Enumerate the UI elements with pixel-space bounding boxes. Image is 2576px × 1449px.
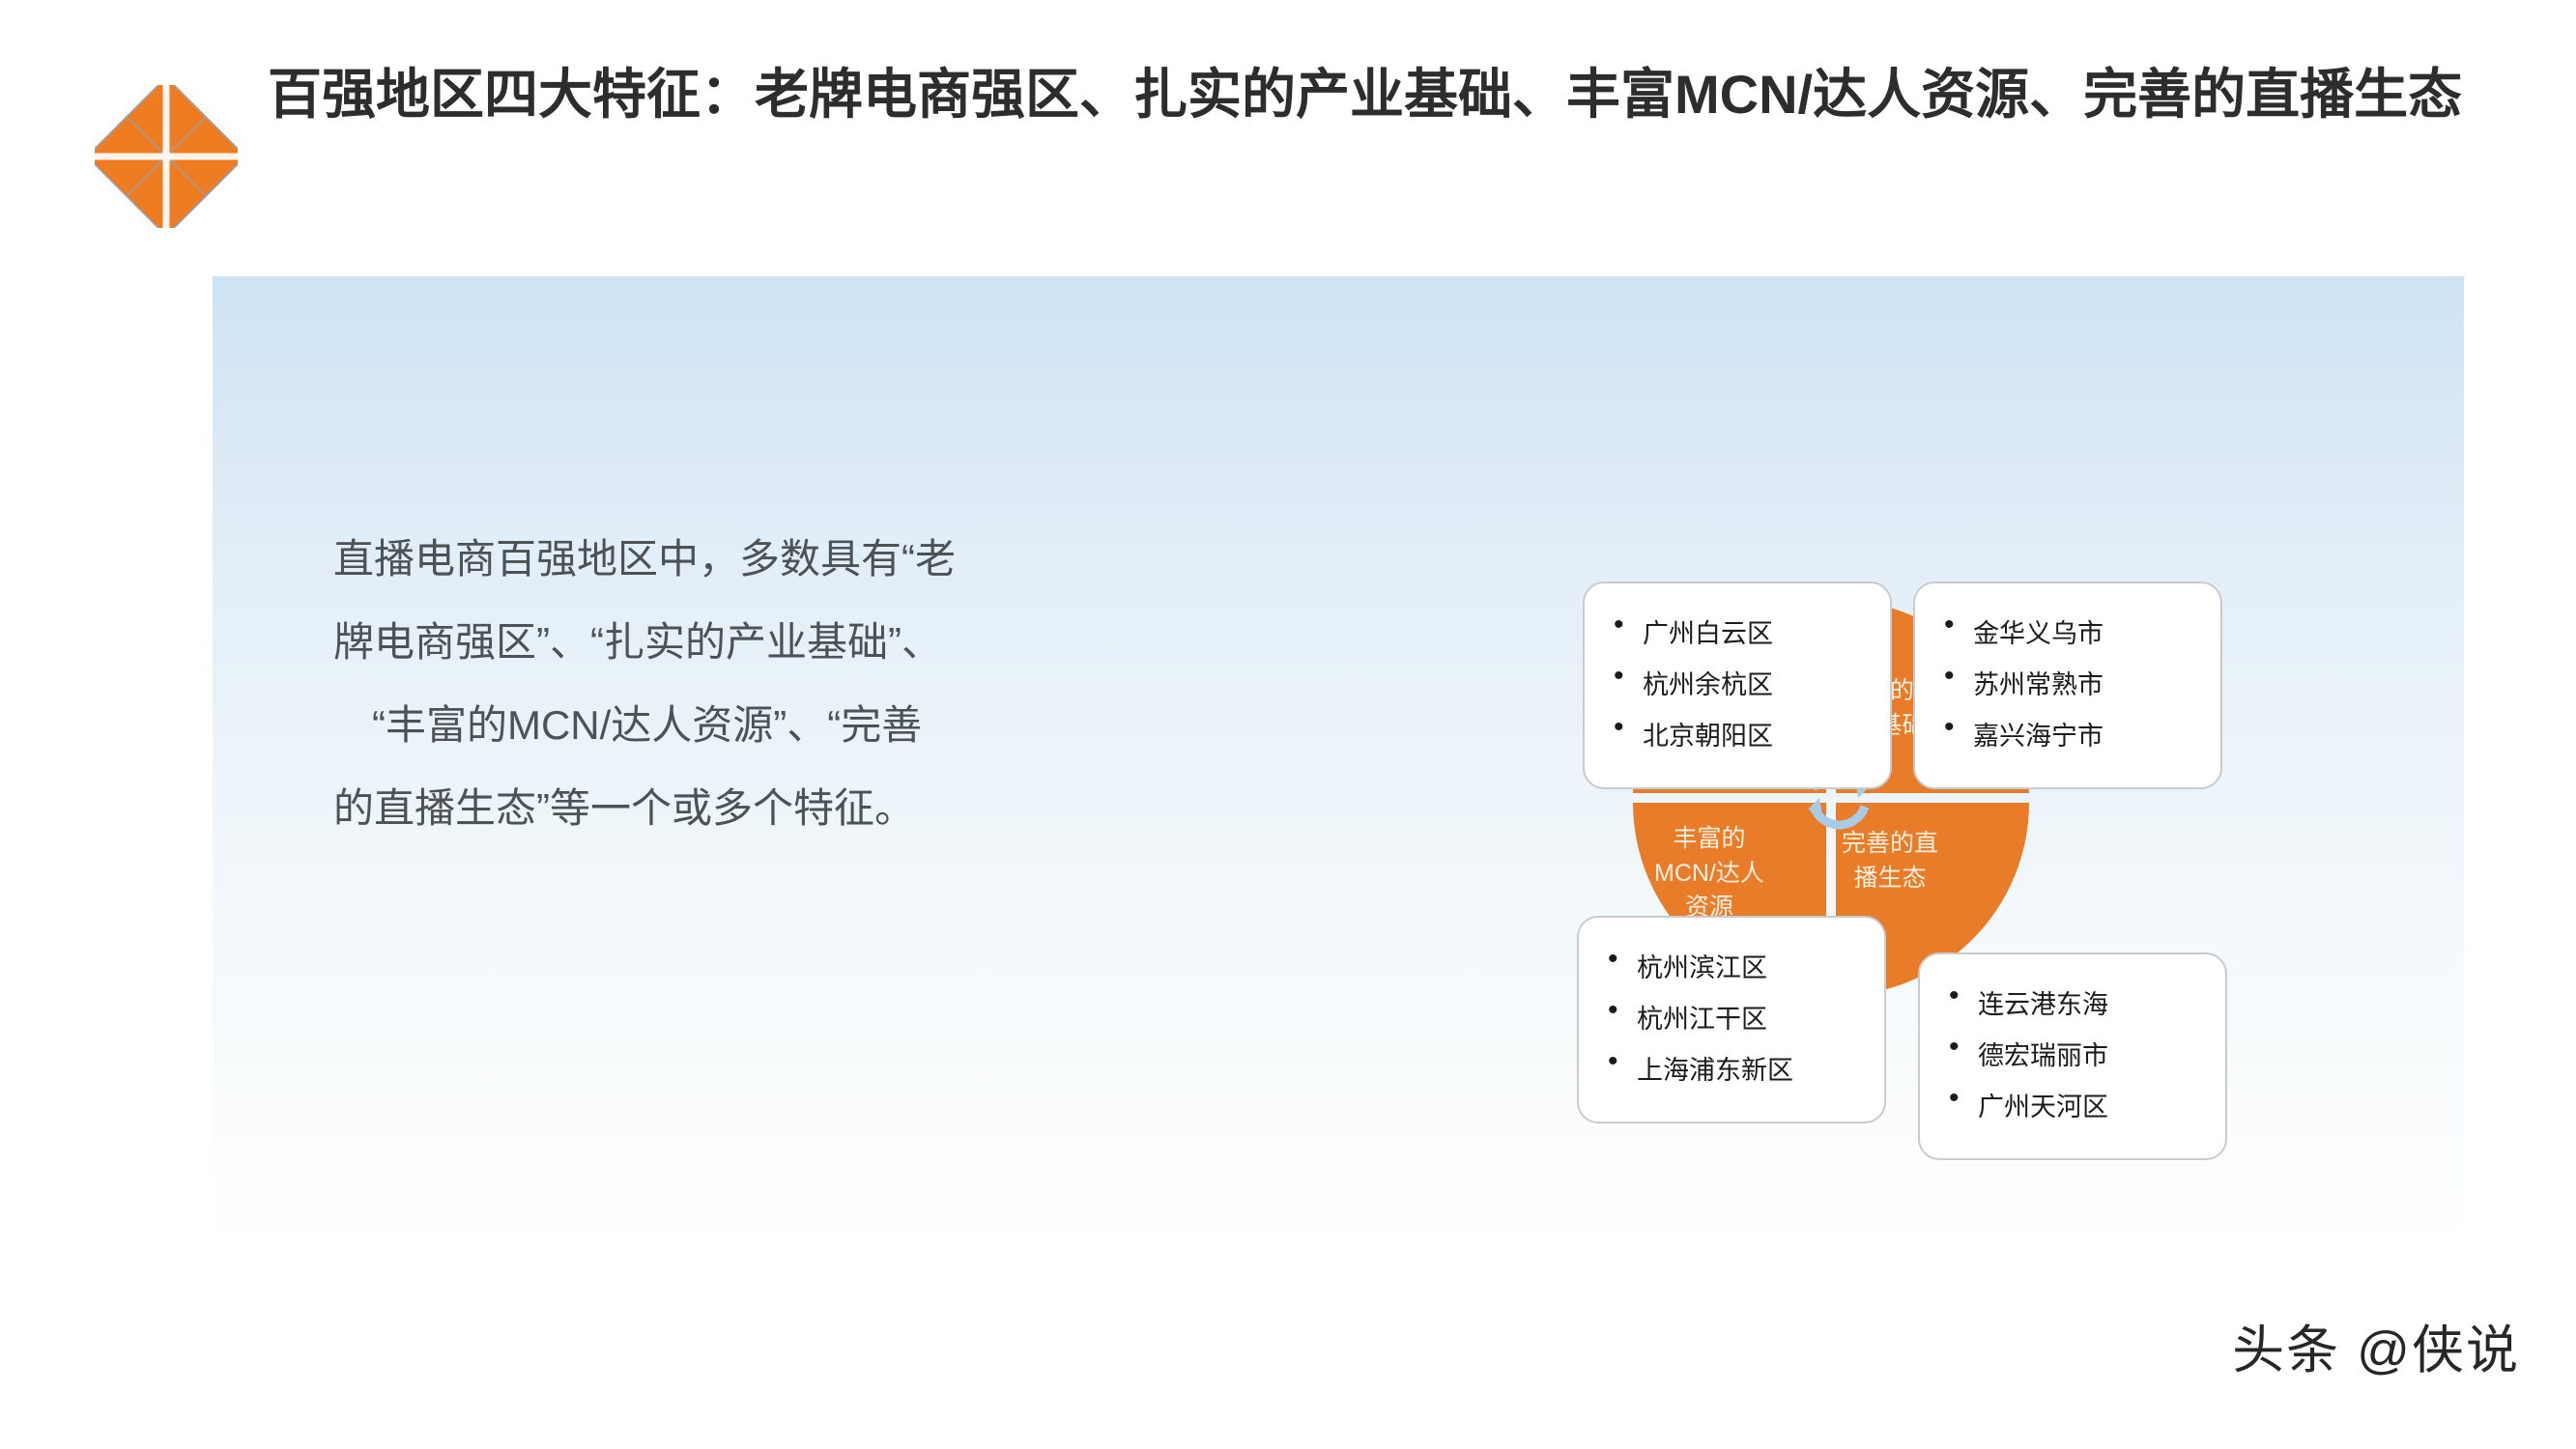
callout-box-top-left: 广州白云区 杭州余杭区 北京朝阳区 xyxy=(1583,582,1892,789)
list-item: 杭州余杭区 xyxy=(1614,660,1861,711)
content-panel: 直播电商百强地区中，多数具有“老 牌电商强区”、“扎实的产业基础”、 “丰富的M… xyxy=(213,276,2464,1242)
paragraph-line: 的直播生态”等一个或多个特征。 xyxy=(333,767,1150,850)
list-item: 连云港东海 xyxy=(1949,980,2196,1031)
watermark: 头条 @侠说 xyxy=(2232,1307,2520,1383)
pie-label-line: MCN/达人 xyxy=(1654,860,1764,887)
list-item: 金华义乌市 xyxy=(1944,609,2191,660)
list-item: 德宏瑞丽市 xyxy=(1949,1031,2196,1082)
paragraph-line: 直播电商百强地区中，多数具有“老 xyxy=(333,518,1150,601)
pie-label-bottom-right: 完善的直 播生态 xyxy=(1813,827,1967,895)
four-feature-pie-diagram: 广州白云区 杭州余杭区 北京朝阳区 金华义乌市 苏州常熟市 嘉兴海宁市 杭州滨江… xyxy=(1353,276,2464,1242)
list-item: 苏州常熟市 xyxy=(1944,660,2191,711)
list-item: 杭州江干区 xyxy=(1608,994,1855,1045)
list-item: 北京朝阳区 xyxy=(1614,711,1861,762)
pie-label-bottom-left: 丰富的 MCN/达人 资源 xyxy=(1632,822,1787,925)
callout-box-bottom-left: 杭州滨江区 杭州江干区 上海浦东新区 xyxy=(1577,916,1886,1123)
pie-label-line: 播生态 xyxy=(1853,865,1926,892)
page-title: 百强地区四大特征：老牌电商强区、扎实的产业基础、丰富MCN/达人资源、完善的直播… xyxy=(268,60,2490,129)
list-item: 杭州滨江区 xyxy=(1608,943,1855,994)
list-item: 上海浦东新区 xyxy=(1608,1045,1855,1096)
paragraph-line: 牌电商强区”、“扎实的产业基础”、 xyxy=(333,601,1150,684)
list-item: 广州白云区 xyxy=(1614,609,1861,660)
slide-header: 百强地区四大特征：老牌电商强区、扎实的产业基础、丰富MCN/达人资源、完善的直播… xyxy=(0,0,2576,275)
four-diamond-logo-icon xyxy=(95,85,238,228)
list-item: 嘉兴海宁市 xyxy=(1944,711,2191,762)
list-item: 广州天河区 xyxy=(1949,1082,2196,1133)
body-paragraph: 直播电商百强地区中，多数具有“老 牌电商强区”、“扎实的产业基础”、 “丰富的M… xyxy=(333,518,1150,850)
callout-box-top-right: 金华义乌市 苏州常熟市 嘉兴海宁市 xyxy=(1913,582,2222,789)
pie-label-line: 丰富的 xyxy=(1673,825,1745,852)
paragraph-line: “丰富的MCN/达人资源”、“完善 xyxy=(333,684,1150,767)
callout-box-bottom-right: 连云港东海 德宏瑞丽市 广州天河区 xyxy=(1918,952,2227,1160)
